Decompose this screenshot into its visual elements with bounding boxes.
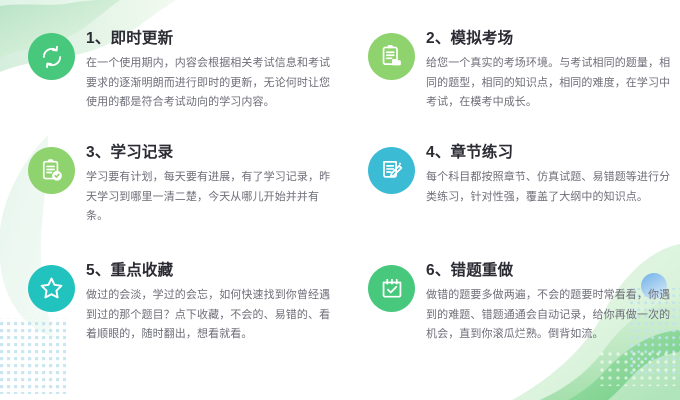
feature-card-4-title: 4、章节练习 — [426, 144, 671, 161]
star-icon — [28, 265, 75, 312]
feature-card-3-text: 学习要有计划，每天要有进展，有了学习记录，昨天学习到哪里一清二楚，今天从哪儿开始… — [86, 168, 331, 227]
feature-card-4[interactable]: 4、章节练习 每个科目都按照章节、仿真试题、易错题等进行分类练习，针对性强，覆盖… — [340, 144, 680, 262]
document-pencil-icon — [368, 147, 415, 194]
feature-card-3-title: 3、学习记录 — [86, 144, 331, 161]
feature-cards-grid: 1、即时更新 在一个使用期内，内容会根据相关考试信息和考试要求的逐渐明朗而进行即… — [0, 0, 680, 400]
feature-card-3-body: 3、学习记录 学习要有计划，每天要有进展，有了学习记录，昨天学习到哪里一清二楚，… — [86, 144, 331, 227]
refresh-sync-icon — [28, 33, 75, 80]
feature-card-2-text: 给您一个真实的考场环境。与考试相同的题量，相同的题型，相同的知识点，相同的难度，… — [426, 54, 671, 113]
feature-card-2[interactable]: 2、模拟考场 给您一个真实的考场环境。与考试相同的题量，相同的题型，相同的知识点… — [340, 30, 680, 144]
feature-card-4-text: 每个科目都按照章节、仿真试题、易错题等进行分类练习，针对性强，覆盖了大纲中的知识… — [426, 168, 671, 207]
feature-card-4-body: 4、章节练习 每个科目都按照章节、仿真试题、易错题等进行分类练习，针对性强，覆盖… — [426, 144, 671, 207]
calendar-check-icon — [368, 265, 415, 312]
feature-card-1[interactable]: 1、即时更新 在一个使用期内，内容会根据相关考试信息和考试要求的逐渐明朗而进行即… — [0, 30, 340, 144]
feature-card-6[interactable]: 6、错题重做 做错的题要多做两遍，不会的题要时常看看，你遇到的难题、错题通通会自… — [340, 262, 680, 380]
feature-card-6-title: 6、错题重做 — [426, 262, 671, 279]
feature-card-6-text: 做错的题要多做两遍，不会的题要时常看看，你遇到的难题、错题通通会自动记录，给你再… — [426, 286, 671, 345]
feature-card-1-body: 1、即时更新 在一个使用期内，内容会根据相关考试信息和考试要求的逐渐明朗而进行即… — [86, 30, 331, 113]
feature-card-6-body: 6、错题重做 做错的题要多做两遍，不会的题要时常看看，你遇到的难题、错题通通会自… — [426, 262, 671, 345]
clipboard-check-icon — [28, 147, 75, 194]
feature-list-page: 1、即时更新 在一个使用期内，内容会根据相关考试信息和考试要求的逐渐明朗而进行即… — [0, 0, 680, 400]
feature-card-5[interactable]: 5、重点收藏 做过的会淡，学过的会忘，如何快速找到你曾经遇到过的那个题目？点下收… — [0, 262, 340, 380]
feature-card-5-text: 做过的会淡，学过的会忘，如何快速找到你曾经遇到过的那个题目？点下收藏，不会的、易… — [86, 286, 331, 345]
feature-card-1-text: 在一个使用期内，内容会根据相关考试信息和考试要求的逐渐明朗而进行即时的更新，无论… — [86, 54, 331, 113]
feature-card-1-title: 1、即时更新 — [86, 30, 331, 47]
clipboard-document-icon — [368, 33, 415, 80]
feature-card-5-body: 5、重点收藏 做过的会淡，学过的会忘，如何快速找到你曾经遇到过的那个题目？点下收… — [86, 262, 331, 345]
feature-card-2-body: 2、模拟考场 给您一个真实的考场环境。与考试相同的题量，相同的题型，相同的知识点… — [426, 30, 671, 113]
feature-card-3[interactable]: 3、学习记录 学习要有计划，每天要有进展，有了学习记录，昨天学习到哪里一清二楚，… — [0, 144, 340, 262]
feature-card-2-title: 2、模拟考场 — [426, 30, 671, 47]
feature-card-5-title: 5、重点收藏 — [86, 262, 331, 279]
